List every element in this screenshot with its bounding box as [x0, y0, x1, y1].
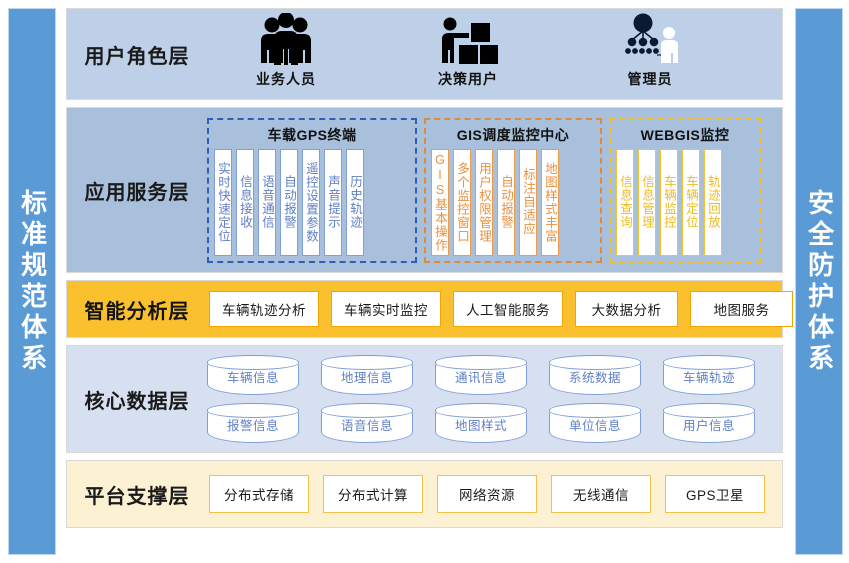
right-pillar-security: 安全防护体系: [795, 8, 843, 555]
database-cylinder[interactable]: 车辆轨迹: [663, 355, 755, 395]
app-feature-cell[interactable]: 遥控设置参数: [302, 149, 320, 256]
database-grid: 车辆信息 地理信息 通讯信息 系统数据 车辆轨迹 报警信息 语音信息 地图样式 …: [207, 347, 755, 451]
app-feature-cell[interactable]: 自动报警: [280, 149, 298, 256]
app-feature-cell[interactable]: 语音通信: [258, 149, 276, 256]
role-item[interactable]: 管理员: [595, 11, 705, 89]
analysis-service-chip[interactable]: 车辆轨迹分析: [209, 291, 319, 327]
app-feature-label: 声音提示: [326, 175, 340, 229]
app-feature-cell[interactable]: 地图样式丰富: [541, 149, 559, 256]
layer-core-data-body: 车辆信息 地理信息 通讯信息 系统数据 车辆轨迹 报警信息 语音信息 地图样式 …: [207, 347, 782, 451]
app-feature-cell[interactable]: GIS基本操作: [431, 149, 449, 256]
app-feature-label: 标注自适应: [521, 168, 535, 236]
layer-intelligent-analysis-body: 车辆轨迹分析 车辆实时监控 人工智能服务 大数据分析 地图服务: [207, 291, 782, 327]
database-label: 用户信息: [683, 415, 735, 434]
analysis-service-chip[interactable]: 车辆实时监控: [331, 291, 441, 327]
database-cylinder[interactable]: 通讯信息: [435, 355, 527, 395]
layer-application-service-body: 车载GPS终端 实时快速定位 信息接收 语音通信 自动报警 遥控设置参数 声音提…: [207, 110, 782, 271]
app-feature-label: 遥控设置参数: [304, 162, 318, 243]
platform-resource-chip[interactable]: 分布式存储: [209, 475, 309, 513]
app-feature-label: 用户权限管理: [477, 162, 491, 243]
group-cells: 信息查询 信息管理 车辆监控 车辆定位 轨迹回放: [616, 149, 754, 256]
app-feature-cell[interactable]: 车辆定位: [682, 149, 700, 256]
database-cylinder[interactable]: 地理信息: [321, 355, 413, 395]
layer-stack: 用户角色层: [66, 8, 783, 555]
database-label: 地图样式: [455, 415, 507, 434]
database-label: 单位信息: [569, 415, 621, 434]
app-feature-label: 自动报警: [499, 175, 513, 229]
platform-resource-chip[interactable]: 网络资源: [437, 475, 537, 513]
group-cells: GIS基本操作 多个监控窗口 用户权限管理 自动报警 标注自适应 地图样式丰富: [431, 149, 595, 256]
layer-application-service-title: 应用服务层: [67, 176, 207, 205]
layer-platform-support-body: 分布式存储 分布式计算 网络资源 无线通信 GPS卫星: [207, 475, 782, 513]
layer-intelligent-analysis-title: 智能分析层: [67, 295, 207, 324]
app-feature-label: 轨迹回放: [706, 175, 720, 229]
app-feature-cell[interactable]: 信息接收: [236, 149, 254, 256]
application-group-list: 车载GPS终端 实时快速定位 信息接收 语音通信 自动报警 遥控设置参数 声音提…: [207, 110, 782, 271]
database-row: 报警信息 语音信息 地图样式 单位信息 用户信息: [207, 403, 755, 443]
left-pillar-label: 标准规范体系: [18, 189, 45, 375]
app-feature-label: 语音通信: [260, 175, 274, 229]
app-feature-cell[interactable]: 声音提示: [324, 149, 342, 256]
database-label: 通讯信息: [455, 367, 507, 386]
layer-user-role-body: 业务人员 决策用户: [207, 11, 782, 97]
platform-resource-chip[interactable]: 分布式计算: [323, 475, 423, 513]
app-feature-cell[interactable]: 信息管理: [638, 149, 656, 256]
app-feature-label: GIS基本操作: [433, 153, 447, 252]
app-feature-cell[interactable]: 信息查询: [616, 149, 634, 256]
app-feature-cell[interactable]: 历史轨迹: [346, 149, 364, 256]
role-label: 管理员: [628, 69, 673, 89]
app-feature-label: 自动报警: [282, 175, 296, 229]
group-vehicle-gps-terminal: 车载GPS终端 实时快速定位 信息接收 语音通信 自动报警 遥控设置参数 声音提…: [207, 118, 417, 263]
analysis-service-list: 车辆轨迹分析 车辆实时监控 人工智能服务 大数据分析 地图服务: [207, 291, 793, 327]
platform-resource-chip[interactable]: 无线通信: [551, 475, 651, 513]
app-feature-label: 历史轨迹: [348, 175, 362, 229]
database-cylinder[interactable]: 语音信息: [321, 403, 413, 443]
role-item[interactable]: 业务人员: [231, 11, 341, 89]
database-label: 系统数据: [569, 367, 621, 386]
database-label: 地理信息: [341, 367, 393, 386]
app-feature-label: 车辆定位: [684, 175, 698, 229]
architecture-diagram: 标准规范体系 用户角色层: [0, 0, 849, 563]
role-item[interactable]: 决策用户: [413, 11, 523, 89]
database-cylinder[interactable]: 用户信息: [663, 403, 755, 443]
layer-application-service: 应用服务层 车载GPS终端 实时快速定位 信息接收 语音通信 自动报警 遥控设置…: [66, 107, 783, 273]
layer-platform-support: 平台支撑层 分布式存储 分布式计算 网络资源 无线通信 GPS卫星: [66, 460, 783, 528]
group-title: GIS调度监控中心: [431, 123, 595, 149]
layer-core-data-title: 核心数据层: [67, 385, 207, 414]
app-feature-cell[interactable]: 用户权限管理: [475, 149, 493, 256]
database-label: 语音信息: [341, 415, 393, 434]
layer-intelligent-analysis: 智能分析层 车辆轨迹分析 车辆实时监控 人工智能服务 大数据分析 地图服务: [66, 280, 783, 338]
analysis-service-chip[interactable]: 大数据分析: [575, 291, 678, 327]
platform-resource-chip[interactable]: GPS卫星: [665, 475, 765, 513]
database-cylinder[interactable]: 系统数据: [549, 355, 641, 395]
database-row: 车辆信息 地理信息 通讯信息 系统数据 车辆轨迹: [207, 355, 755, 395]
org-chart-person-icon: [621, 11, 679, 65]
layer-core-data: 核心数据层 车辆信息 地理信息 通讯信息 系统数据 车辆轨迹 报警信息 语音信息…: [66, 345, 783, 453]
database-label: 车辆信息: [227, 367, 279, 386]
app-feature-label: 多个监控窗口: [455, 162, 469, 243]
person-blocks-icon: [438, 11, 498, 65]
database-label: 报警信息: [227, 415, 279, 434]
app-feature-cell[interactable]: 车辆监控: [660, 149, 678, 256]
right-pillar-label: 安全防护体系: [805, 189, 832, 375]
app-feature-label: 信息查询: [618, 175, 632, 229]
role-label: 决策用户: [438, 69, 498, 89]
database-cylinder[interactable]: 地图样式: [435, 403, 527, 443]
database-cylinder[interactable]: 单位信息: [549, 403, 641, 443]
app-feature-cell[interactable]: 自动报警: [497, 149, 515, 256]
database-label: 车辆轨迹: [683, 367, 735, 386]
left-pillar-standards: 标准规范体系: [8, 8, 56, 555]
app-feature-cell[interactable]: 多个监控窗口: [453, 149, 471, 256]
app-feature-label: 地图样式丰富: [543, 162, 557, 243]
group-cells: 实时快速定位 信息接收 语音通信 自动报警 遥控设置参数 声音提示 历史轨迹: [214, 149, 410, 256]
database-cylinder[interactable]: 车辆信息: [207, 355, 299, 395]
layer-platform-support-title: 平台支撑层: [67, 480, 207, 509]
group-webgis-monitoring: WEBGIS监控 信息查询 信息管理 车辆监控 车辆定位 轨迹回放: [609, 118, 761, 263]
layer-user-role: 用户角色层: [66, 8, 783, 100]
analysis-service-chip[interactable]: 地图服务: [690, 291, 793, 327]
layer-user-role-title: 用户角色层: [67, 40, 207, 69]
platform-resource-list: 分布式存储 分布式计算 网络资源 无线通信 GPS卫星: [207, 475, 765, 513]
group-title: 车载GPS终端: [214, 123, 410, 149]
app-feature-label: 实时快速定位: [216, 162, 230, 243]
database-cylinder[interactable]: 报警信息: [207, 403, 299, 443]
app-feature-label: 车辆监控: [662, 175, 676, 229]
role-label: 业务人员: [256, 69, 316, 89]
app-feature-cell[interactable]: 标注自适应: [519, 149, 537, 256]
analysis-service-chip[interactable]: 人工智能服务: [453, 291, 563, 327]
app-feature-cell[interactable]: 实时快速定位: [214, 149, 232, 256]
role-list: 业务人员 决策用户: [207, 11, 705, 97]
app-feature-label: 信息接收: [238, 175, 252, 229]
app-feature-cell[interactable]: 轨迹回放: [704, 149, 722, 256]
group-gis-dispatch-center: GIS调度监控中心 GIS基本操作 多个监控窗口 用户权限管理 自动报警 标注自…: [424, 118, 602, 263]
group-title: WEBGIS监控: [616, 123, 754, 149]
group-people-icon: [255, 11, 317, 65]
app-feature-label: 信息管理: [640, 175, 654, 229]
